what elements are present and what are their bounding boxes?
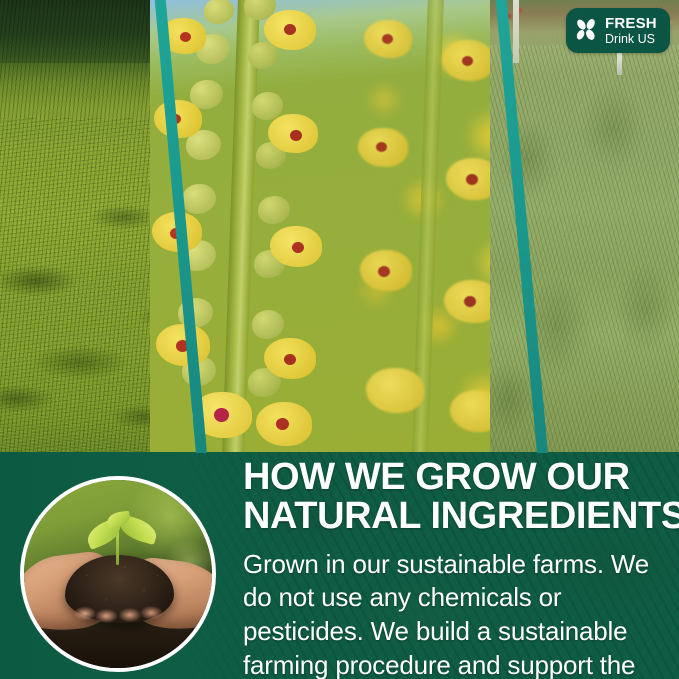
logo-sign-post xyxy=(617,53,622,75)
photo-strip xyxy=(0,0,679,453)
fresh-drink-us-logo[interactable]: FRESH Drink US xyxy=(566,8,670,53)
fingertips xyxy=(73,598,171,628)
callout-text-block: HOW WE GROW OUR NATURAL INGREDIENTS Grow… xyxy=(243,458,667,679)
page-title: HOW WE GROW OUR NATURAL INGREDIENTS xyxy=(243,458,667,536)
photo-center-mullein-flowers xyxy=(150,0,540,453)
product-image-canvas: FRESH Drink US HOW WE GROW OUR NATURAL I… xyxy=(0,0,679,679)
sprout-in-hands-photo xyxy=(20,476,216,672)
logo-wordmark: FRESH Drink US xyxy=(605,16,657,46)
headline-line-2: NATURAL INGREDIENTS xyxy=(243,497,667,536)
headline-line-1: HOW WE GROW OUR xyxy=(243,458,667,497)
body-paragraph: Grown in our sustainable farms. We do no… xyxy=(243,548,667,679)
nursery-post xyxy=(513,0,519,63)
logo-line-fresh: FRESH xyxy=(605,16,657,31)
logo-line-drink-us: Drink US xyxy=(605,33,657,46)
leaf-cluster-icon xyxy=(573,17,600,44)
